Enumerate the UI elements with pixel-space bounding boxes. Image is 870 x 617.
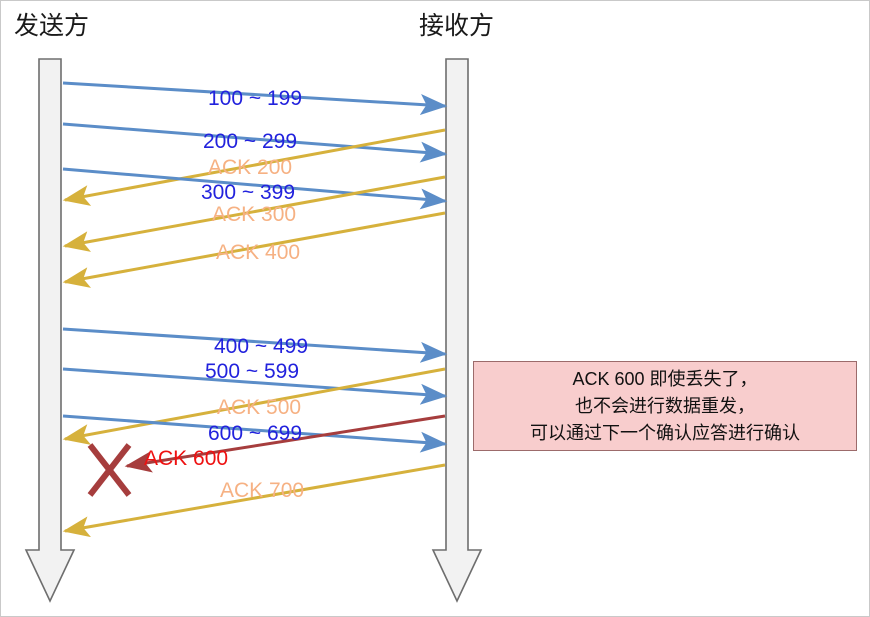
label-ack-300: ACK 300 bbox=[212, 203, 296, 227]
note-line-2: 也不会进行数据重发， bbox=[575, 393, 755, 420]
note-line-3: 可以通过下一个确认应答进行确认 bbox=[530, 420, 800, 447]
label-ack-700: ACK 700 bbox=[220, 479, 304, 503]
label-ack-500: ACK 500 bbox=[217, 396, 301, 420]
label-data-500-599: 500 ~ 599 bbox=[205, 360, 299, 384]
label-data-200-299: 200 ~ 299 bbox=[203, 130, 297, 154]
label-data-400-499: 400 ~ 499 bbox=[214, 335, 308, 359]
label-data-100-199: 100 ~ 199 bbox=[208, 87, 302, 111]
label-ack-600-lost: ACK 600 bbox=[144, 447, 228, 471]
message-arrows-layer bbox=[1, 1, 870, 617]
packet-loss-x-icon bbox=[90, 445, 129, 495]
sequence-diagram-canvas: 发送方 接收方 bbox=[0, 0, 870, 617]
note-line-1: ACK 600 即使丢失了， bbox=[572, 366, 757, 393]
label-ack-200: ACK 200 bbox=[208, 156, 292, 180]
label-ack-400: ACK 400 bbox=[216, 241, 300, 265]
label-data-600-699: 600 ~ 699 bbox=[208, 422, 302, 446]
label-data-300-399: 300 ~ 399 bbox=[201, 181, 295, 205]
annotation-note: ACK 600 即使丢失了， 也不会进行数据重发， 可以通过下一个确认应答进行确… bbox=[473, 361, 857, 451]
